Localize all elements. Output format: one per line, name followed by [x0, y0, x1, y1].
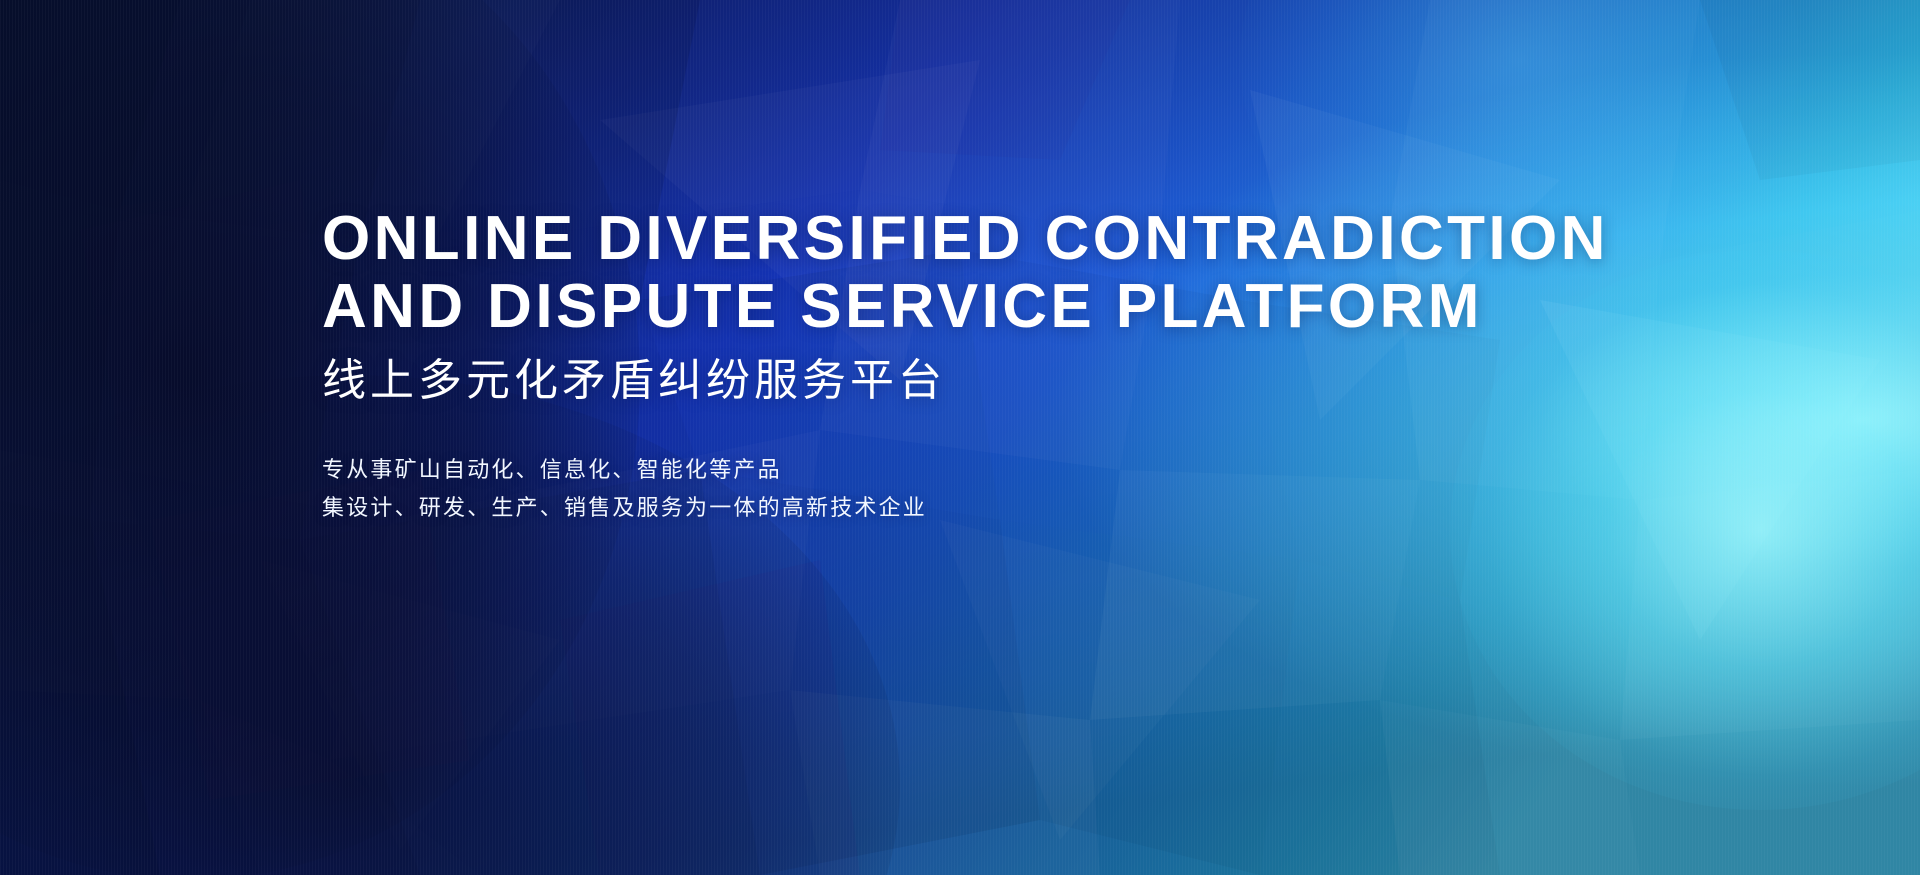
subtitle-chinese: 线上多元化矛盾纠纷服务平台 — [322, 355, 1642, 407]
tagline-block: 专从事矿山自动化、信息化、智能化等产品 集设计、研发、生产、销售及服务为一体的高… — [322, 451, 1642, 527]
hero-banner: ONLINE DIVERSIFIED CONTRADICTION AND DIS… — [0, 0, 1920, 875]
headline-line-2: AND DISPUTE SERVICE PLATFORM — [322, 273, 1642, 341]
banner-content: ONLINE DIVERSIFIED CONTRADICTION AND DIS… — [322, 205, 1642, 527]
tagline-line-1: 专从事矿山自动化、信息化、智能化等产品 — [322, 451, 1642, 489]
tagline-line-2: 集设计、研发、生产、销售及服务为一体的高新技术企业 — [322, 489, 1642, 527]
headline-line-1: ONLINE DIVERSIFIED CONTRADICTION — [322, 205, 1642, 273]
